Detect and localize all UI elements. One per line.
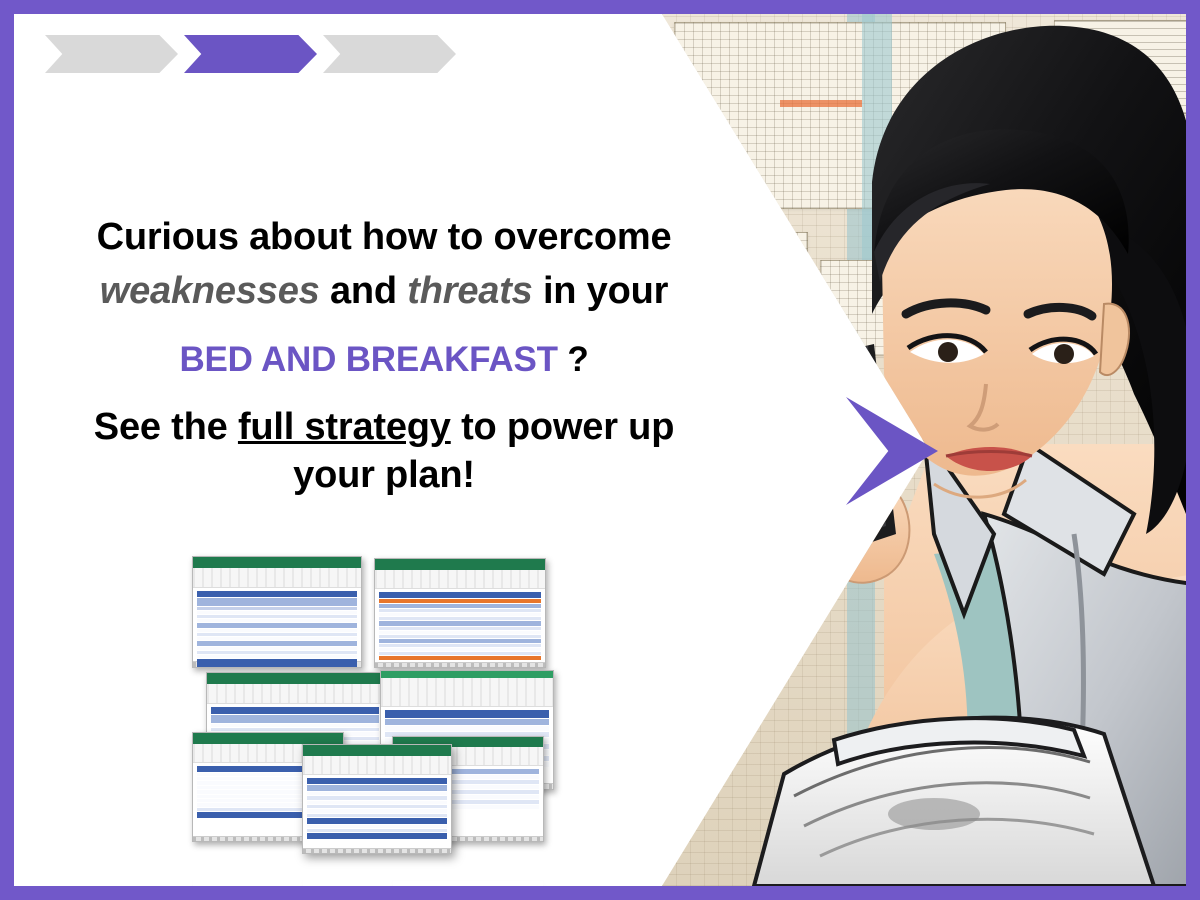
cta-prefix: See the xyxy=(94,406,238,448)
excel-titlebar xyxy=(303,745,451,756)
thumbnail-sheet-2[interactable] xyxy=(374,558,546,668)
excel-titlebar xyxy=(375,559,545,570)
excel-ribbon xyxy=(303,756,451,775)
headline-line-1: Curious about how to overcome xyxy=(34,214,734,262)
cta-link-full-strategy[interactable]: full strategy xyxy=(238,406,451,448)
thumbnail-sheet-1[interactable] xyxy=(192,556,362,668)
headline-line-2-tail: in your xyxy=(533,270,669,312)
collage-reflection xyxy=(184,880,554,886)
slide-frame: Curious about how to overcome weaknesses… xyxy=(0,0,1200,900)
thumbnail-sheet-7[interactable] xyxy=(302,744,452,854)
excel-grid xyxy=(375,589,545,661)
headline-line-2: weaknesses and threats in your xyxy=(34,268,734,316)
excel-titlebar xyxy=(193,733,343,744)
business-type-label: BED AND BREAKFAST xyxy=(179,340,557,379)
excel-titlebar xyxy=(193,557,361,568)
headline-word-weaknesses: weaknesses xyxy=(100,270,320,312)
question-mark: ? xyxy=(558,340,589,379)
headline-block: Curious about how to overcome weaknesses… xyxy=(34,214,734,500)
headline-business-type: BED AND BREAKFAST ? xyxy=(34,338,734,382)
step-chevron-1[interactable] xyxy=(45,35,178,73)
excel-statusbar xyxy=(375,662,545,668)
excel-titlebar xyxy=(381,671,553,678)
headline-line-5: your plan! xyxy=(34,452,734,500)
excel-ribbon xyxy=(381,678,553,707)
headline-word-threats: threats xyxy=(407,270,532,312)
step-chevron-2-active[interactable] xyxy=(184,35,317,73)
excel-grid xyxy=(193,588,361,662)
excel-ribbon xyxy=(193,568,361,588)
excel-titlebar xyxy=(207,673,383,684)
cta-suffix: to power up xyxy=(451,406,674,448)
headline-line-4: See the full strategy to power up xyxy=(34,404,734,452)
spreadsheet-thumbnails[interactable] xyxy=(184,554,554,884)
step-chevrons xyxy=(45,35,456,73)
excel-statusbar xyxy=(303,848,451,854)
slide-canvas: Curious about how to overcome weaknesses… xyxy=(14,14,1186,886)
step-chevron-3[interactable] xyxy=(323,35,456,73)
headline-conjunction: and xyxy=(320,270,408,312)
excel-ribbon xyxy=(375,570,545,589)
wall-chart-bar xyxy=(744,300,760,348)
excel-ribbon xyxy=(207,684,383,704)
excel-grid xyxy=(303,775,451,847)
